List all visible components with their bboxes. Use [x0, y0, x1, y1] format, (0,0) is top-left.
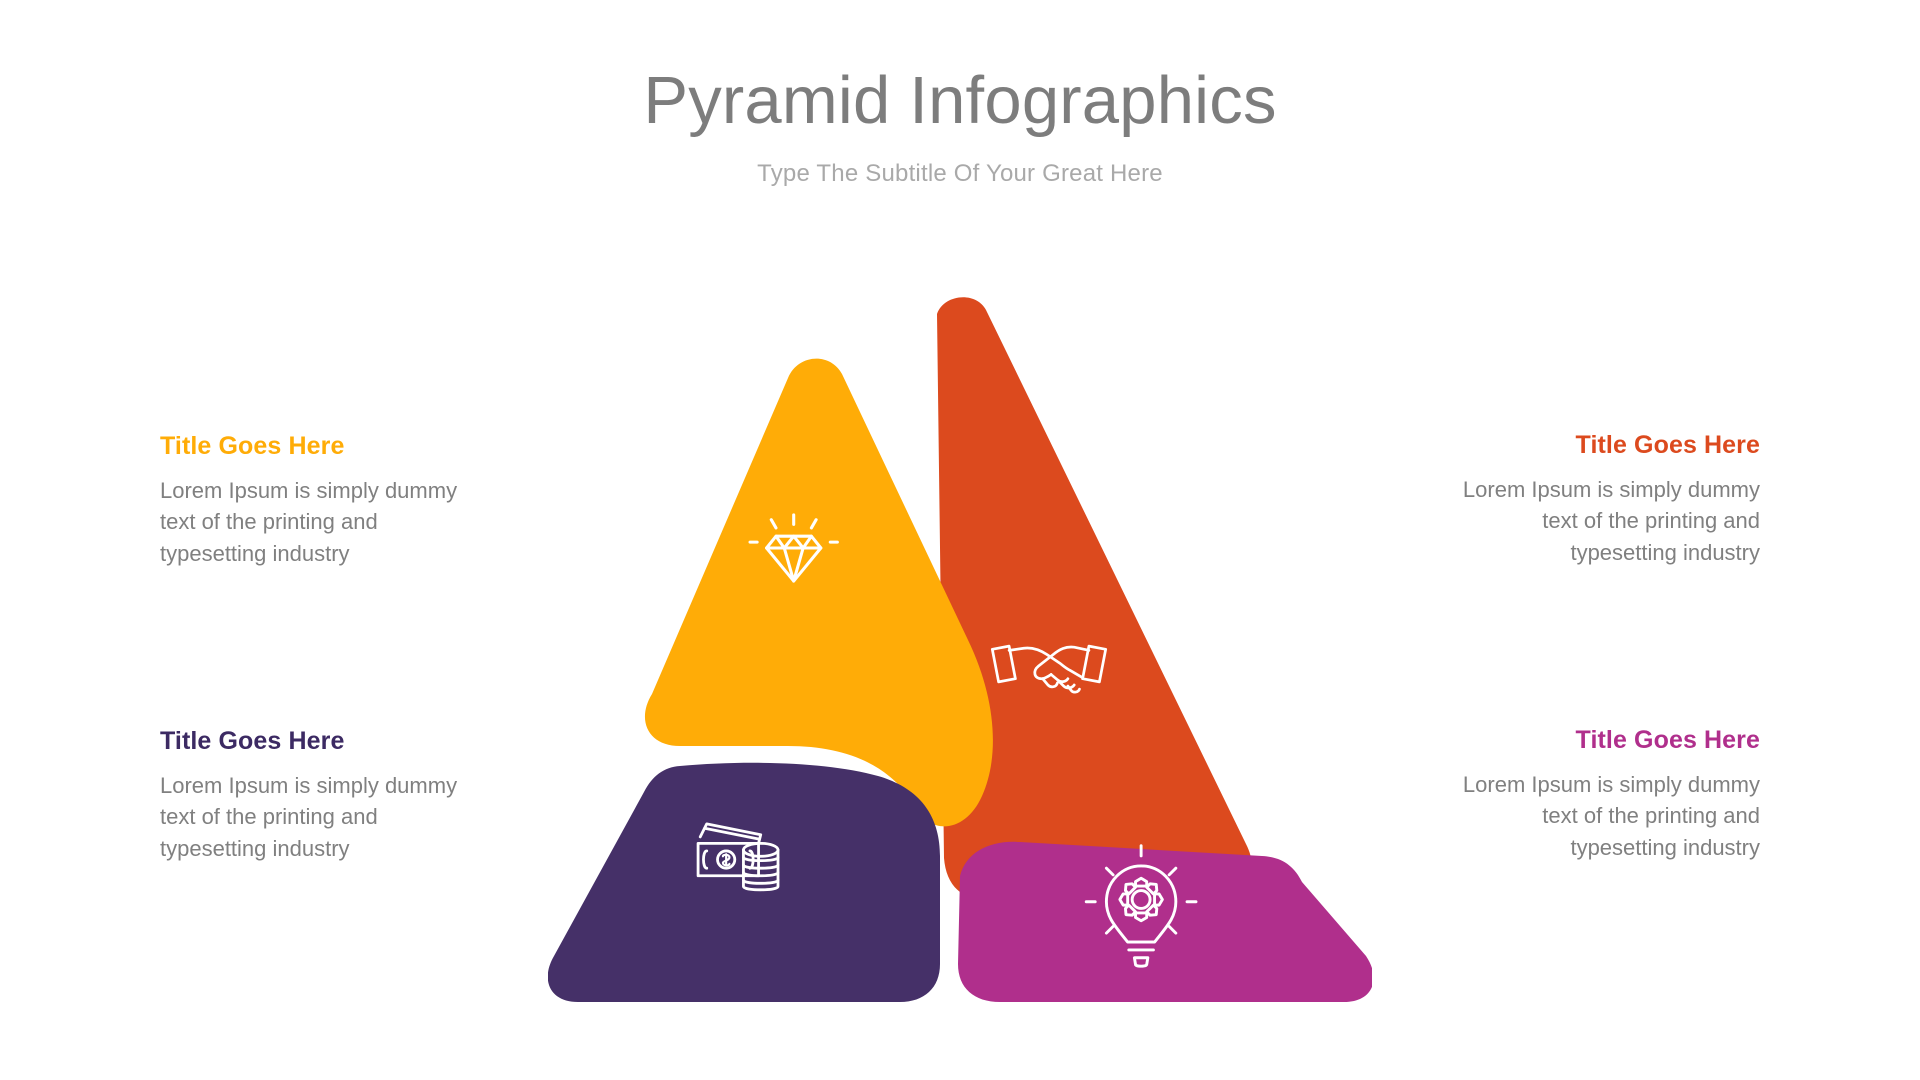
- info-block-magenta: Title Goes Here Lorem Ipsum is simply du…: [1430, 726, 1760, 864]
- block-body: Lorem Ipsum is simply dummy text of the …: [1430, 474, 1760, 569]
- block-body: Lorem Ipsum is simply dummy text of the …: [160, 770, 490, 865]
- orange-red-segment[interactable]: [937, 297, 1252, 900]
- block-title: Title Goes Here: [160, 432, 490, 461]
- info-block-orange-red: Title Goes Here Lorem Ipsum is simply du…: [1430, 431, 1760, 569]
- pyramid-svg: [548, 296, 1372, 1016]
- block-title: Title Goes Here: [1430, 431, 1760, 460]
- magenta-segment-shape[interactable]: [958, 842, 1372, 1002]
- block-title: Title Goes Here: [160, 727, 490, 756]
- info-block-amber: Title Goes Here Lorem Ipsum is simply du…: [160, 432, 490, 570]
- orange-red-segment-shape[interactable]: [937, 297, 1252, 900]
- pyramid-diagram: [548, 296, 1372, 1016]
- slide-canvas: Pyramid Infographics Type The Subtitle O…: [0, 0, 1920, 1080]
- info-block-dark-purple: Title Goes Here Lorem Ipsum is simply du…: [160, 727, 490, 865]
- block-body: Lorem Ipsum is simply dummy text of the …: [160, 475, 490, 570]
- magenta-segment[interactable]: [958, 842, 1372, 1002]
- block-title: Title Goes Here: [1430, 726, 1760, 755]
- slide-header: Pyramid Infographics Type The Subtitle O…: [0, 0, 1920, 188]
- page-title: Pyramid Infographics: [0, 66, 1920, 136]
- page-subtitle: Type The Subtitle Of Your Great Here: [0, 160, 1920, 188]
- block-body: Lorem Ipsum is simply dummy text of the …: [1430, 769, 1760, 864]
